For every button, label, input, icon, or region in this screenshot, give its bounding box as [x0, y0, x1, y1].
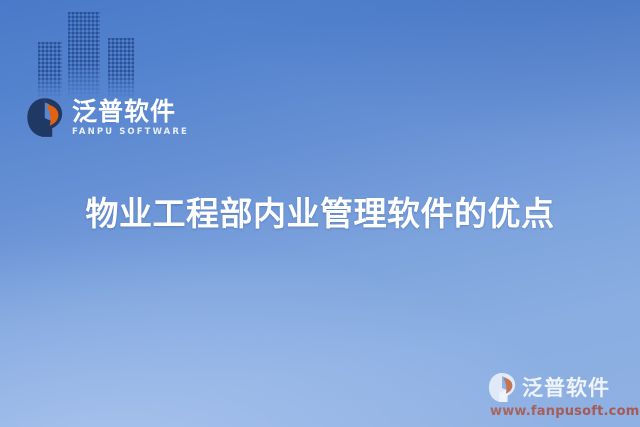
pixel-skyline-icon	[38, 8, 146, 100]
fanpu-logo-watermark-icon	[488, 372, 518, 403]
watermark: 泛普软件 www.fanpusoft.com	[488, 372, 634, 419]
brand-lockup: 泛普软件 FANPU SOFTWARE	[26, 97, 189, 138]
brand-wordmark: 泛普软件 FANPU SOFTWARE	[72, 99, 189, 137]
brand-name-en: FANPU SOFTWARE	[72, 127, 189, 137]
watermark-name-cn: 泛普软件	[522, 377, 610, 399]
skyline-tower-left	[38, 42, 62, 100]
page-title: 物业工程部内业管理软件的优点	[0, 192, 640, 236]
watermark-lockup: 泛普软件	[488, 372, 634, 403]
fanpu-logo-icon	[26, 97, 66, 138]
brand-name-cn: 泛普软件	[72, 99, 189, 125]
skyline-tower-right	[108, 38, 134, 100]
skyline-tower-center	[68, 12, 100, 100]
promo-banner: 泛普软件 FANPU SOFTWARE 物业工程部内业管理软件的优点 泛普软件 …	[0, 0, 640, 427]
watermark-url: www.fanpusoft.com	[488, 404, 634, 419]
